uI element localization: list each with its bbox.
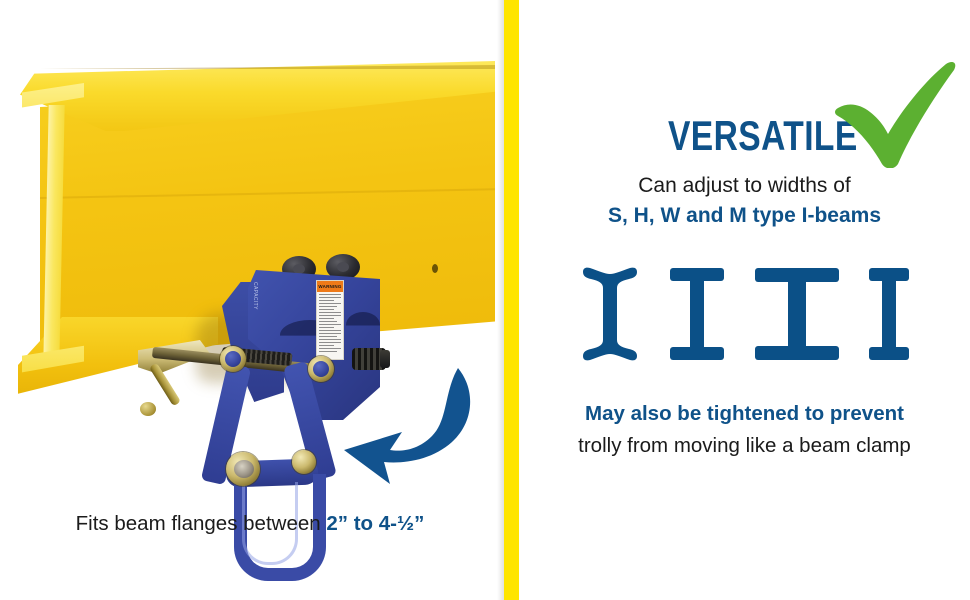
caption-prefix: Fits beam flanges between <box>76 512 327 535</box>
m-type-i-beam-icon <box>867 266 911 367</box>
trolley-brand-text: CAPACITY <box>252 282 258 310</box>
footer-line-2: trolly from moving like a beam clamp <box>519 434 970 458</box>
i-beam-icon-row <box>519 262 970 370</box>
curved-arrow-icon <box>340 362 480 492</box>
versatile-heading-row: VERSATILE <box>519 60 970 168</box>
hex-nut <box>308 356 334 382</box>
beam-bolt-hole <box>432 264 438 273</box>
caption-highlight: 2” to 4-½” <box>326 512 424 535</box>
adjustment-rod-end-cap <box>140 402 156 416</box>
infographic-root: CAPACITY WARNING <box>0 0 970 600</box>
roller-hub <box>293 264 305 274</box>
right-panel: VERSATILE Can adjust to widths of S, H, … <box>519 0 970 600</box>
warning-label-body-text <box>317 292 343 352</box>
warning-label-header: WARNING <box>317 281 343 292</box>
photo-caption: Fits beam flanges between 2” to 4-½” <box>0 512 500 536</box>
hex-nut-cap <box>225 351 241 367</box>
subtitle-line-2: S, H, W and M type I-beams <box>519 204 970 228</box>
footer-line-1: May also be tightened to prevent <box>519 402 970 426</box>
subtitle-line-1: Can adjust to widths of <box>519 174 970 198</box>
product-photo: CAPACITY WARNING <box>0 0 500 600</box>
warning-label: WARNING <box>316 280 344 360</box>
roller-hub <box>337 262 349 272</box>
hex-nut <box>292 450 316 474</box>
cotter-pin <box>234 460 254 478</box>
warning-label-heading-text: WARNING <box>318 284 341 289</box>
green-check-icon <box>824 60 958 173</box>
beam-face-web <box>43 105 64 363</box>
beam-end-face <box>22 83 84 383</box>
w-type-i-beam-icon <box>753 266 841 367</box>
yellow-divider-bar <box>504 0 519 600</box>
hex-nut-cap <box>313 361 329 377</box>
h-type-i-beam-icon <box>667 266 727 367</box>
divider-shadow <box>497 0 504 600</box>
s-type-i-beam-icon <box>579 266 641 367</box>
hex-nut <box>220 346 246 372</box>
